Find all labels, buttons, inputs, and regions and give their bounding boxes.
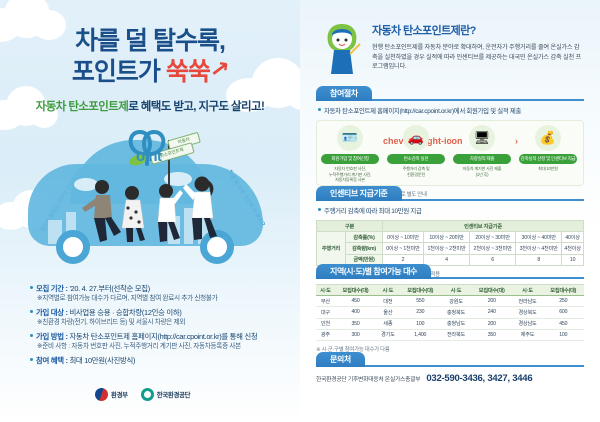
region-col-header: 시·도: [512, 285, 542, 296]
info-note: ※친환경 차량(전기, 하이브리드 등) 및 서울시 차량은 제외: [30, 318, 292, 328]
bullet-dot-icon: [30, 310, 33, 313]
chevron-right-icon: ›: [449, 136, 452, 146]
region-cell: 350: [335, 318, 376, 329]
region-cell: 세종: [376, 318, 399, 329]
table-header-row: 시·도 모집대수(대) 시·도 모집대수(대) 시·도 모집대수(대) 시·도 …: [316, 285, 584, 296]
info-main-line: 모집 기간 : '20. 4. 27.부터(선착순 모집): [30, 283, 292, 294]
headline-line-1: 차를 덜 탈수록,: [0, 26, 300, 57]
intro-title: 자동차 탄소포인트제란?: [372, 22, 584, 38]
taeguk-icon: [95, 388, 108, 401]
region-cell: 경상북도: [512, 307, 542, 318]
region-cell: 1,400: [400, 329, 441, 340]
step-desc: 주행거리 감축 및 친환경운전: [387, 166, 445, 177]
incentive-cell: 2천이상 ~ 3천미만: [470, 243, 516, 254]
region-cell: 부산: [316, 296, 335, 307]
headline-line-2-accent: 쑥쑥: [166, 58, 210, 86]
process-steps: 🪪 회원가입 및 참여신청 자동차 번호판 사진, 누적주행거리 계기판 사진,…: [316, 120, 584, 186]
region-cell: 100: [543, 329, 584, 340]
point-wordmark: oint: [136, 148, 162, 165]
region-cell: 울산: [376, 307, 399, 318]
info-note: ※지역별로 참여가능 대수가 다르며, 지역별 참여 완료시 추가 신청불가: [30, 294, 292, 304]
region-cell: 강원도: [441, 296, 471, 307]
step-tag: 차량실적 제출: [453, 154, 511, 164]
info-item: 참여 혜택 : 최대 10만원(사진방식): [30, 355, 292, 366]
section-participation: 참여절차 자동차 탄소포인트제 홈페이지(http://car.cpoint.o…: [316, 86, 584, 198]
info-value: 자동차 탄소포인트제 홈페이지(http://car.cpoint.or.kr)…: [69, 332, 257, 341]
info-item: 가입 대상 : 비사업용 승용 · 승합차량(12인승 이하) ※친환경 차량(…: [30, 307, 292, 328]
incentive-row-head: 감축률(%): [346, 232, 383, 243]
region-cell: 광주: [316, 329, 335, 340]
mascot-character-icon: [322, 22, 362, 78]
region-cell: 충청남도: [441, 318, 471, 329]
footer-logos: 환경부 한국환경공단: [95, 388, 190, 401]
table-header-row: 구분 인센티브 지급기준: [317, 221, 584, 232]
bullet-dot-icon: [30, 358, 33, 361]
region-cell: 충청북도: [441, 307, 471, 318]
info-item: 가입 방법 : 자동차 탄소포인트제 홈페이지(http://car.cpoin…: [30, 331, 292, 352]
table-row: 감축량(km) 0이상 ~ 1천미만 1천이상 ~ 2천미만 2천이상 ~ 3천…: [317, 243, 584, 254]
info-label: 모집 기간 :: [36, 284, 68, 293]
region-cell: 200: [471, 296, 512, 307]
chevron-right-icon: ›: [515, 136, 518, 146]
sub-headline: 자동차 탄소포인트제로 혜택도 받고, 지구도 살리고!: [0, 98, 300, 114]
incentive-bullet: 주행거리 감축에 따라 최대 10만원 지급: [318, 206, 584, 215]
headline-line-2-plain: 포인트가: [72, 58, 166, 86]
info-label: 참여 혜택 :: [36, 356, 68, 365]
sub-headline-green: 자동차 탄소포인트제: [36, 101, 128, 113]
region-cell: 제주도: [512, 329, 542, 340]
section-title: 참여절차: [316, 86, 372, 101]
incentive-cell: 0이상 ~ 10미만: [383, 232, 424, 243]
process-step: 🪪 회원가입 및 참여신청 자동차 번호판 사진, 누적주행거리 계기판 사진,…: [321, 125, 379, 183]
region-cell: 400: [335, 307, 376, 318]
table-row: 광주 300 경기도 1,400 전라북도 350 제주도 100: [316, 329, 584, 340]
section-header: 문의처: [316, 352, 584, 367]
table-row: 부산 450 대전 550 강원도 200 전라남도 250: [316, 296, 584, 307]
region-cell: 230: [400, 307, 441, 318]
table-row: 대구 400 울산 230 충청북도 240 경상북도 600: [316, 307, 584, 318]
step-desc: 자동차 계기판 사진 제출 (1년 후): [453, 166, 511, 177]
logo-ministry-of-environment: 환경부: [95, 388, 128, 401]
incentive-col-group: 구분: [317, 221, 383, 232]
region-cell: 240: [471, 307, 512, 318]
table-row: 주행거리 감축률(%) 0이상 ~ 10미만 10이상 ~ 20미만 20이상 …: [317, 232, 584, 243]
region-col-header: 시·도: [376, 285, 399, 296]
incentive-cell: 20이상 ~ 30미만: [470, 232, 516, 243]
section-header: 지역(시·도)별 참여가능 대수: [316, 264, 584, 279]
monitor-icon: 🖥: [469, 125, 495, 151]
money-bag-icon: 💰: [535, 125, 561, 151]
incentive-cell: 4천이상: [562, 243, 584, 254]
headline-block: 차를 덜 탈수록, 포인트가 쑥쑥↗ 자동차 탄소포인트제로 혜택도 받고, 지…: [0, 26, 300, 114]
car-illustration: oint 걸으면 좋아요 지구가 건강해져요 차를 덜 타면 포인트가 쌓여요 …: [18, 122, 283, 282]
up-arrow-icon: ↗: [208, 54, 230, 85]
bullet-dot-icon: [318, 108, 321, 111]
info-value: '20. 4. 27.부터(선착순 모집): [69, 284, 150, 293]
region-col-header: 시·도: [441, 285, 471, 296]
region-cell: 경기도: [376, 329, 399, 340]
section-contact: 문의처 한국환경공단 기후변화대응처 온실가스총괄부032-590-3436, …: [316, 352, 584, 384]
incentive-cell: 30이상 ~ 40미만: [516, 232, 562, 243]
process-step: 💰 감축실적 산정 및 인센티브 지급 최대 10만원: [519, 125, 577, 172]
section-region: 지역(시·도)별 참여가능 대수 시·도 모집대수(대) 시·도 모집대수(대)…: [316, 264, 584, 353]
info-main-line: 가입 방법 : 자동차 탄소포인트제 홈페이지(http://car.cpoin…: [30, 331, 292, 342]
region-cell: 550: [400, 296, 441, 307]
region-table: 시·도 모집대수(대) 시·도 모집대수(대) 시·도 모집대수(대) 시·도 …: [316, 284, 584, 341]
contact-org: 한국환경공단 기후변화대응처 온실가스총괄부: [316, 377, 420, 383]
bullet-dot-icon: [30, 286, 33, 289]
region-cell: 100: [400, 318, 441, 329]
contact-line: 한국환경공단 기후변화대응처 온실가스총괄부032-590-3436, 3427…: [316, 373, 584, 384]
section-title: 문의처: [316, 352, 365, 367]
section-title: 지역(시·도)별 참여가능 대수: [316, 264, 431, 279]
headline-line-2: 포인트가 쑥쑥↗: [0, 57, 300, 88]
region-cell: 300: [335, 329, 376, 340]
left-panel: 차를 덜 탈수록, 포인트가 쑥쑥↗ 자동차 탄소포인트제로 혜택도 받고, 지…: [0, 0, 300, 422]
section-header: 인센티브 지급기준: [316, 186, 584, 201]
incentive-cell: 0이상 ~ 1천미만: [383, 243, 424, 254]
incentive-row-label: 주행거리: [317, 232, 346, 266]
step-tag: 탄소감축 실천: [387, 154, 445, 164]
section-header: 참여절차: [316, 86, 584, 101]
info-main-line: 참여 혜택 : 최대 10만원(사진방식): [30, 355, 292, 366]
region-cell: 350: [471, 329, 512, 340]
info-value: 비사업용 승용 · 승합차량(12인승 이하): [69, 308, 181, 317]
info-item: 모집 기간 : '20. 4. 27.부터(선착순 모집) ※지역별로 참여가능…: [30, 283, 292, 304]
region-cell: 전라북도: [441, 329, 471, 340]
region-col-header: 모집대수(대): [543, 285, 584, 296]
intro-body: 현행 탄소포인트제를 자동차 분야로 확대하여, 운전자가 주행거리를 줄여 온…: [372, 43, 584, 72]
region-cell: 대전: [376, 296, 399, 307]
step-desc: 최대 10만원: [519, 166, 577, 172]
participation-bullet: 자동차 탄소포인트제 홈페이지(http://car.cpoint.or.kr)…: [318, 106, 584, 115]
info-list: 모집 기간 : '20. 4. 27.부터(선착순 모집) ※지역별로 참여가능…: [30, 283, 292, 369]
process-step: 🖥 차량실적 제출 자동차 계기판 사진 제출 (1년 후): [453, 125, 511, 177]
region-cell: 200: [471, 318, 512, 329]
id-card-icon: 🪪: [337, 125, 363, 151]
incentive-cell: 40이상: [562, 232, 584, 243]
eco-car-icon: 🚗: [403, 125, 429, 151]
table-row: 인천 350 세종 100 충청남도 200 경상남도 450: [316, 318, 584, 329]
info-main-line: 가입 대상 : 비사업용 승용 · 승합차량(12인승 이하): [30, 307, 292, 318]
keco-circle-icon: [141, 388, 154, 401]
incentive-col-span: 인센티브 지급기준: [383, 221, 584, 232]
info-note: ※준비 사항 : 자동차 번호판 사진, 누적주행거리 계기판 사진, 자동차등…: [30, 342, 292, 352]
person-figure: [180, 174, 226, 246]
logo-label: 환경부: [111, 390, 128, 399]
sub-headline-rest: 로 혜택도 받고, 지구도 살리고!: [128, 101, 264, 113]
region-cell: 450: [335, 296, 376, 307]
incentive-cell: 3천이상 ~ 4천미만: [516, 243, 562, 254]
region-cell: 전라남도: [512, 296, 542, 307]
step-tag: 회원가입 및 참여신청: [321, 154, 379, 164]
incentive-row-head: 감축량(km): [346, 243, 383, 254]
region-col-header: 시·도: [316, 285, 335, 296]
bullet-dot-icon: [30, 334, 33, 337]
region-cell: 경상남도: [512, 318, 542, 329]
contact-phone[interactable]: 032-590-3436, 3427, 3446: [426, 373, 532, 384]
region-cell: 인천: [316, 318, 335, 329]
logo-label: 한국환경공단: [157, 390, 190, 399]
bullet-dot-icon: [318, 208, 321, 211]
region-col-header: 모집대수(대): [335, 285, 376, 296]
region-col-header: 모집대수(대): [471, 285, 512, 296]
logo-keco: 한국환경공단: [141, 388, 190, 401]
region-cell: 250: [543, 296, 584, 307]
incentive-table: 구분 인센티브 지급기준 주행거리 감축률(%) 0이상 ~ 10미만 10이상…: [316, 220, 584, 266]
incentive-bullet-text: 주행거리 감축에 따라 최대 10만원 지급: [324, 208, 422, 215]
region-cell: 450: [543, 318, 584, 329]
section-title: 인센티브 지급기준: [316, 186, 402, 201]
step-tag: 감축실적 산정 및 인센티브 지급: [519, 154, 577, 164]
intro-block: 자동차 탄소포인트제란? 현행 탄소포인트제를 자동차 분야로 확대하여, 운전…: [372, 22, 584, 72]
region-col-header: 모집대수(대): [400, 285, 441, 296]
info-value: 최대 10만원(사진방식): [69, 356, 135, 365]
incentive-cell: 1천이상 ~ 2천미만: [423, 243, 469, 254]
incentive-cell: 10이상 ~ 20미만: [423, 232, 469, 243]
info-label: 가입 방법 :: [36, 332, 68, 341]
region-cell: 대구: [316, 307, 335, 318]
participation-bullet-text: 자동차 탄소포인트제 홈페이지(http://car.cpoint.or.kr)…: [324, 108, 521, 115]
step-desc: 자동차 번호판 사진, 누적주행거리 계기판 사진, 자동차등록증 사본: [321, 166, 379, 183]
region-cell: 600: [543, 307, 584, 318]
infographic-page: 차를 덜 탈수록, 포인트가 쑥쑥↗ 자동차 탄소포인트제로 혜택도 받고, 지…: [0, 0, 600, 422]
info-label: 가입 대상 :: [36, 308, 68, 317]
right-panel: 자동차 탄소포인트제란? 현행 탄소포인트제를 자동차 분야로 확대하여, 운전…: [300, 0, 600, 422]
process-step: 🚗 탄소감축 실천 주행거리 감축 및 친환경운전: [387, 125, 445, 177]
